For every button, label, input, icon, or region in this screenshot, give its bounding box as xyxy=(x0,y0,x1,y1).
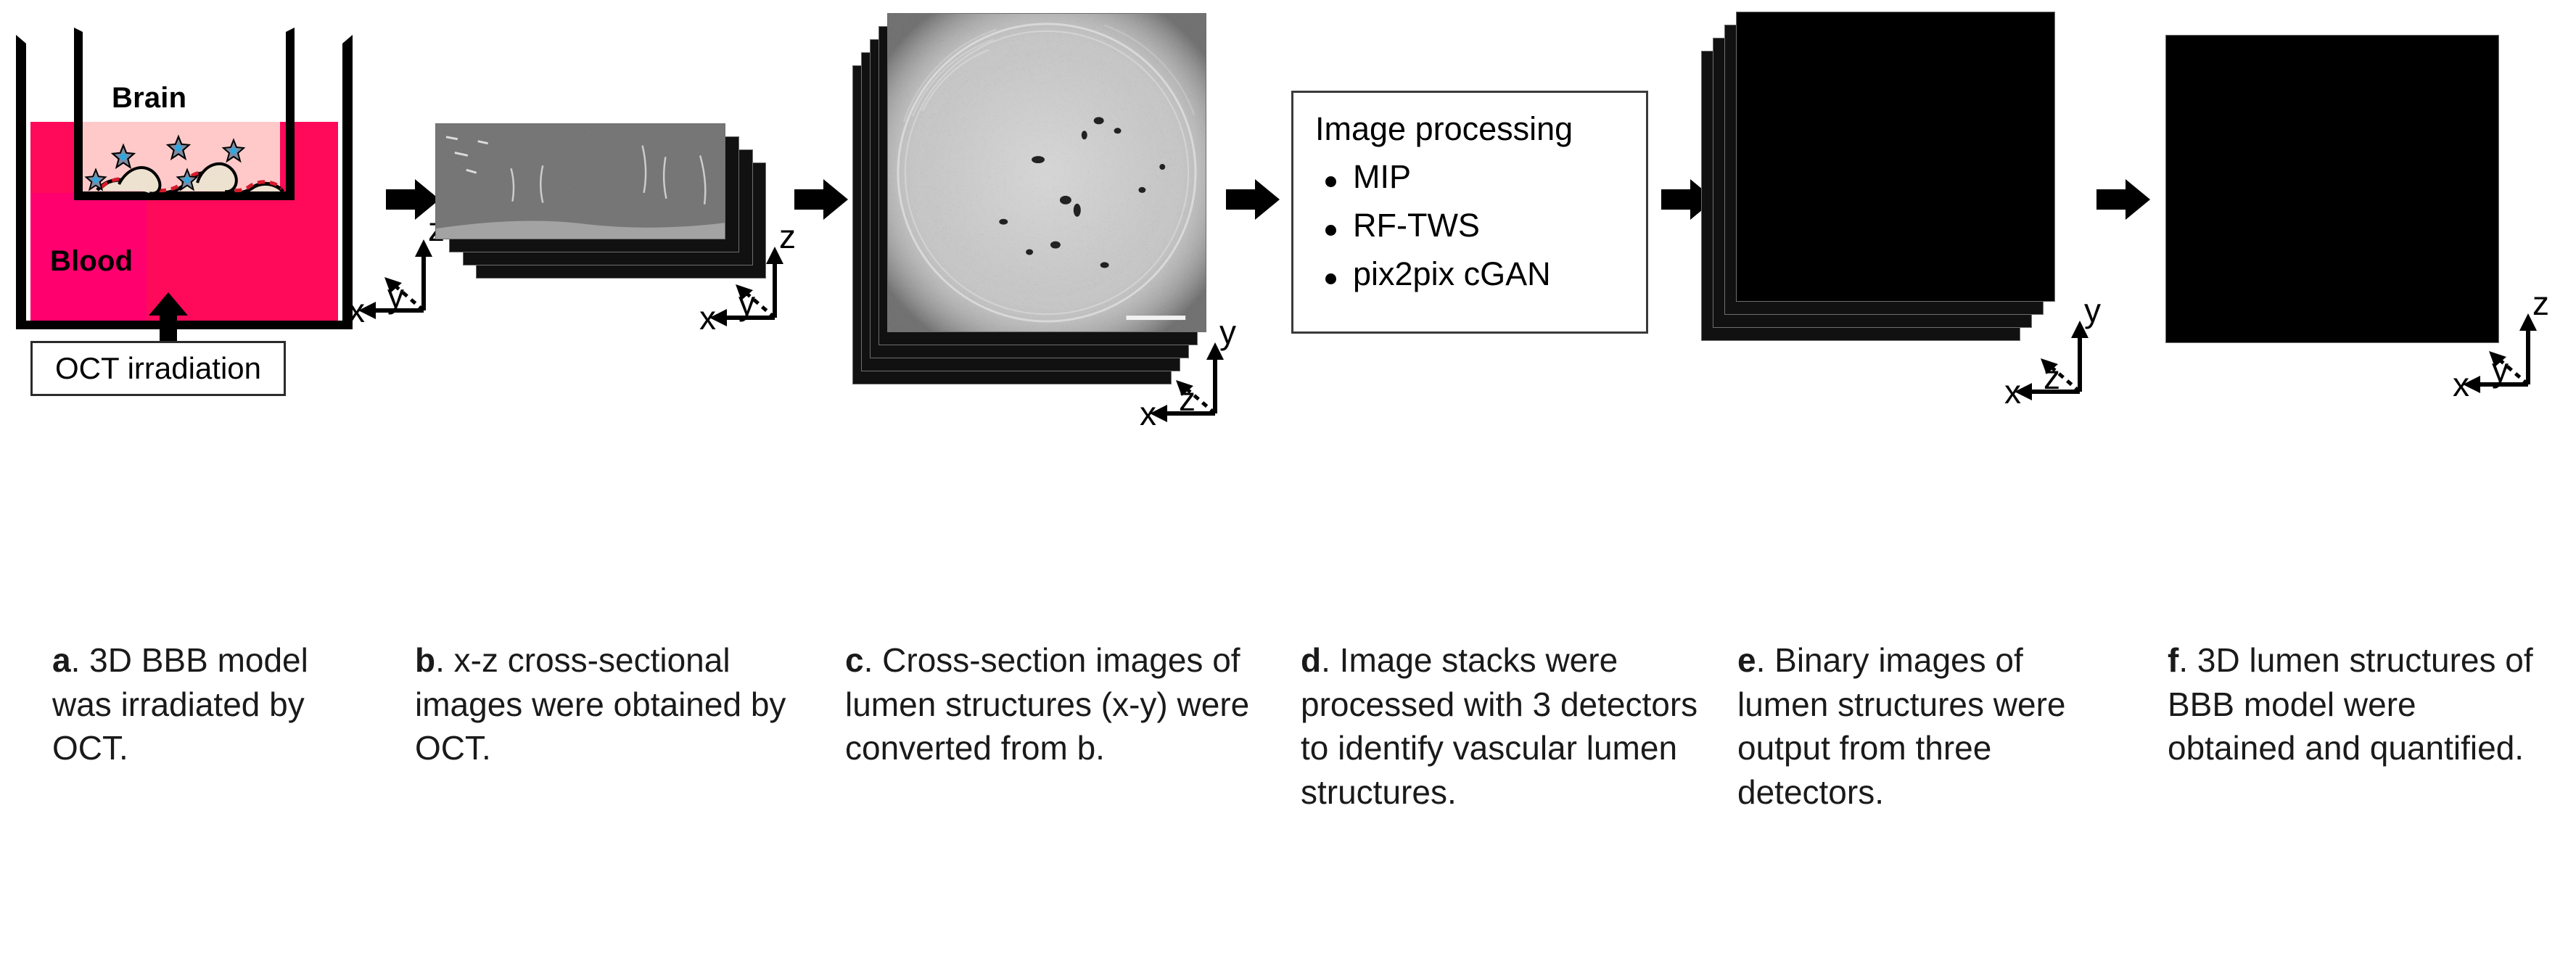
caption-f-tag: f xyxy=(2168,641,2178,679)
panel-b-axis-z-label: z xyxy=(779,218,796,255)
caption-f-text: . 3D lumen structures of BBB model were … xyxy=(2168,641,2533,767)
caption-e-text: . Binary images of lumen structures were… xyxy=(1737,641,2066,811)
panel-a-bbb-model: Brain Blood OCT irradiation z y xyxy=(10,6,387,456)
panel-e-binary-stack: y z x xyxy=(1701,7,2078,457)
caption-a: a. 3D BBB model was irradiated by OCT. xyxy=(52,638,371,770)
stack-sheet-front xyxy=(1736,12,2055,302)
flow-arrow-e-to-f-icon xyxy=(2096,178,2150,221)
image-processing-list: MIP RF-TWS pix2pix cGAN xyxy=(1315,160,1646,291)
panel-c-xy-stack: y z x xyxy=(852,7,1237,457)
panel-c-axis-x-label: x xyxy=(1140,395,1156,432)
flow-arrow-a-to-b-icon xyxy=(386,178,440,221)
blood-label: Blood xyxy=(50,245,133,278)
caption-d-tag: d xyxy=(1301,641,1321,679)
caption-b: b. x-z cross-sectional images were obtai… xyxy=(415,638,810,770)
image-processing-box: Image processing MIP RF-TWS pix2pix cGAN xyxy=(1291,91,1648,334)
caption-d: d. Image stacks were processed with 3 de… xyxy=(1301,638,1707,815)
panel-f-axis-z-label: z xyxy=(2532,284,2549,322)
oct-irradiation-label: OCT irradiation xyxy=(55,353,261,384)
image-processing-title: Image processing xyxy=(1315,112,1646,146)
caption-c-text: . Cross-section images of lumen structur… xyxy=(845,641,1249,767)
panel-c-axis-y-label: y xyxy=(1219,313,1236,351)
panel-f-3d-render: z y x xyxy=(2165,7,2572,464)
caption-f: f. 3D lumen structures of BBB model were… xyxy=(2168,638,2552,770)
caption-row: a. 3D BBB model was irradiated by OCT. b… xyxy=(0,638,2576,964)
processing-item: pix2pix cGAN xyxy=(1315,258,1646,292)
flow-arrow-b-to-c-icon xyxy=(794,178,848,221)
flow-arrow-c-to-d-icon xyxy=(1226,178,1280,221)
stack-sheet-front xyxy=(435,123,725,239)
caption-e: e. Binary images of lumen structures wer… xyxy=(1737,638,2122,815)
caption-e-tag: e xyxy=(1737,641,1756,679)
stack-sheet-front xyxy=(887,13,1206,332)
panel-b-axis-x-label: x xyxy=(699,299,716,337)
panel-b-axis-y-label: y xyxy=(738,284,755,322)
panel-e-axis-x-label: x xyxy=(2004,373,2021,411)
processing-item: MIP xyxy=(1315,160,1646,194)
oct-irradiation-arrow-icon xyxy=(144,292,192,345)
oct-irradiation-box: OCT irradiation xyxy=(30,341,286,396)
panel-f-axes: z y x xyxy=(2456,297,2564,406)
insert-membrane xyxy=(74,191,295,200)
volume-render-view xyxy=(2165,35,2499,343)
caption-d-text: . Image stacks were processed with 3 det… xyxy=(1301,641,1698,811)
panel-a-axis-y-label: y xyxy=(387,277,404,315)
insert-left-wall xyxy=(74,28,83,200)
caption-b-tag: b xyxy=(415,641,435,679)
caption-b-text: . x-z cross-sectional images were obtain… xyxy=(415,641,786,767)
panel-b-axes: z y x xyxy=(702,231,811,339)
panel-f-axis-y-label: y xyxy=(2492,351,2509,389)
panel-b-xz-stack: z y x xyxy=(435,123,798,363)
panel-a-axis-x-label: x xyxy=(348,292,365,329)
panel-f-axis-x-label: x xyxy=(2453,366,2469,403)
caption-c: c. Cross-section images of lumen structu… xyxy=(845,638,1251,770)
caption-a-tag: a xyxy=(52,641,71,679)
panel-e-axes: y z x xyxy=(2007,305,2116,413)
panel-e-axis-y-label: y xyxy=(2084,292,2101,329)
caption-a-text: . 3D BBB model was irradiated by OCT. xyxy=(52,641,308,767)
well-diagram xyxy=(10,6,373,339)
caption-c-tag: c xyxy=(845,641,864,679)
brain-label: Brain xyxy=(112,82,186,115)
insert-right-wall xyxy=(286,28,295,200)
panel-d-image-processing: Image processing MIP RF-TWS pix2pix cGAN xyxy=(1291,29,1654,341)
processing-item: RF-TWS xyxy=(1315,209,1646,243)
panel-c-axes: y z x xyxy=(1143,326,1251,435)
panel-e-axis-z-label: z xyxy=(2044,358,2060,396)
panel-c-axis-z-label: z xyxy=(1179,380,1196,418)
pipeline-row: Brain Blood OCT irradiation z y xyxy=(0,0,2576,464)
